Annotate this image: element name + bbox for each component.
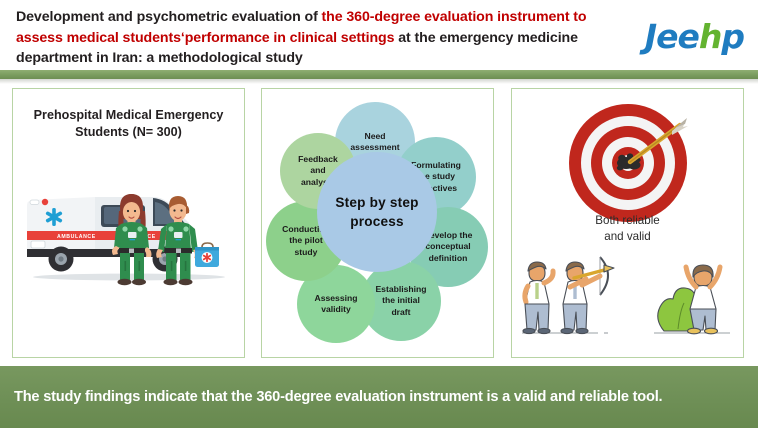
panel-left-heading-line1: Prehospital Medical Emergency <box>21 107 236 124</box>
page-title: Development and psychometric evaluation … <box>16 7 602 69</box>
header-divider-bar <box>0 70 758 79</box>
reliability-caption: Both reliable and valid <box>520 213 735 245</box>
ambulance-svg: AMBULANCE AMBULANCE <box>13 161 246 286</box>
dartboard-svg <box>512 101 745 226</box>
figure-archer <box>561 257 614 334</box>
petal-1-line1: Need <box>350 131 399 142</box>
reliability-caption-line2: and valid <box>520 229 735 245</box>
graphical-abstract-page: Development and psychometric evaluation … <box>0 0 758 428</box>
footer-text: The study findings indicate that the 360… <box>0 389 758 405</box>
medical-kit-icon <box>195 243 219 267</box>
step-by-step-flower-diagram: Need assessment Formulating the study ob… <box>262 89 495 359</box>
jeehp-logo[interactable]: Jeehp <box>645 20 744 53</box>
ambulance-word-left: AMBULANCE <box>57 234 96 240</box>
people-svg <box>512 251 745 343</box>
logo-segment-jee: Jee <box>645 17 699 56</box>
petal-5-line2: validity <box>315 304 358 315</box>
panel-left-heading: Prehospital Medical Emergency Students (… <box>21 107 236 141</box>
petal-3-line3: definition <box>424 253 473 264</box>
flower-core-step-by-step[interactable]: Step by step process <box>317 152 437 272</box>
logo-segment-p: p <box>721 17 744 56</box>
petal-4-line2: the initial <box>375 295 426 306</box>
title-segment-1: Development and psychometric evaluation … <box>16 9 322 25</box>
header: Development and psychometric evaluation … <box>0 0 758 70</box>
panel-process-diagram: Need assessment Formulating the study ob… <box>261 88 494 358</box>
petal-6-line3: study <box>282 247 330 258</box>
petal-5-line1: Assessing <box>315 293 358 304</box>
reliability-caption-line1: Both reliable <box>520 213 735 229</box>
core-label-line1: Step by step <box>335 193 418 212</box>
petal-4-line3: draft <box>375 307 426 318</box>
panel-left-heading-line2: Students (N= 300) <box>21 124 236 141</box>
core-label-line2: process <box>335 212 418 231</box>
logo-segment-h: h <box>699 17 722 56</box>
footer-conclusion-banner: The study findings indicate that the 360… <box>0 366 758 428</box>
header-divider-shadow <box>0 79 758 84</box>
panel-reliability-validity: Both reliable and valid <box>511 88 744 358</box>
petal-3-line2: conceptual <box>424 241 473 252</box>
people-illustration <box>512 251 745 343</box>
petal-4-line1: Establishing <box>375 284 426 295</box>
target-illustration <box>512 101 745 226</box>
figure-observer <box>523 262 553 334</box>
ambulance-illustration: AMBULANCE AMBULANCE <box>13 161 246 286</box>
panel-study-population: Prehospital Medical Emergency Students (… <box>12 88 245 358</box>
petal-7-line1: Feedback <box>298 154 338 165</box>
